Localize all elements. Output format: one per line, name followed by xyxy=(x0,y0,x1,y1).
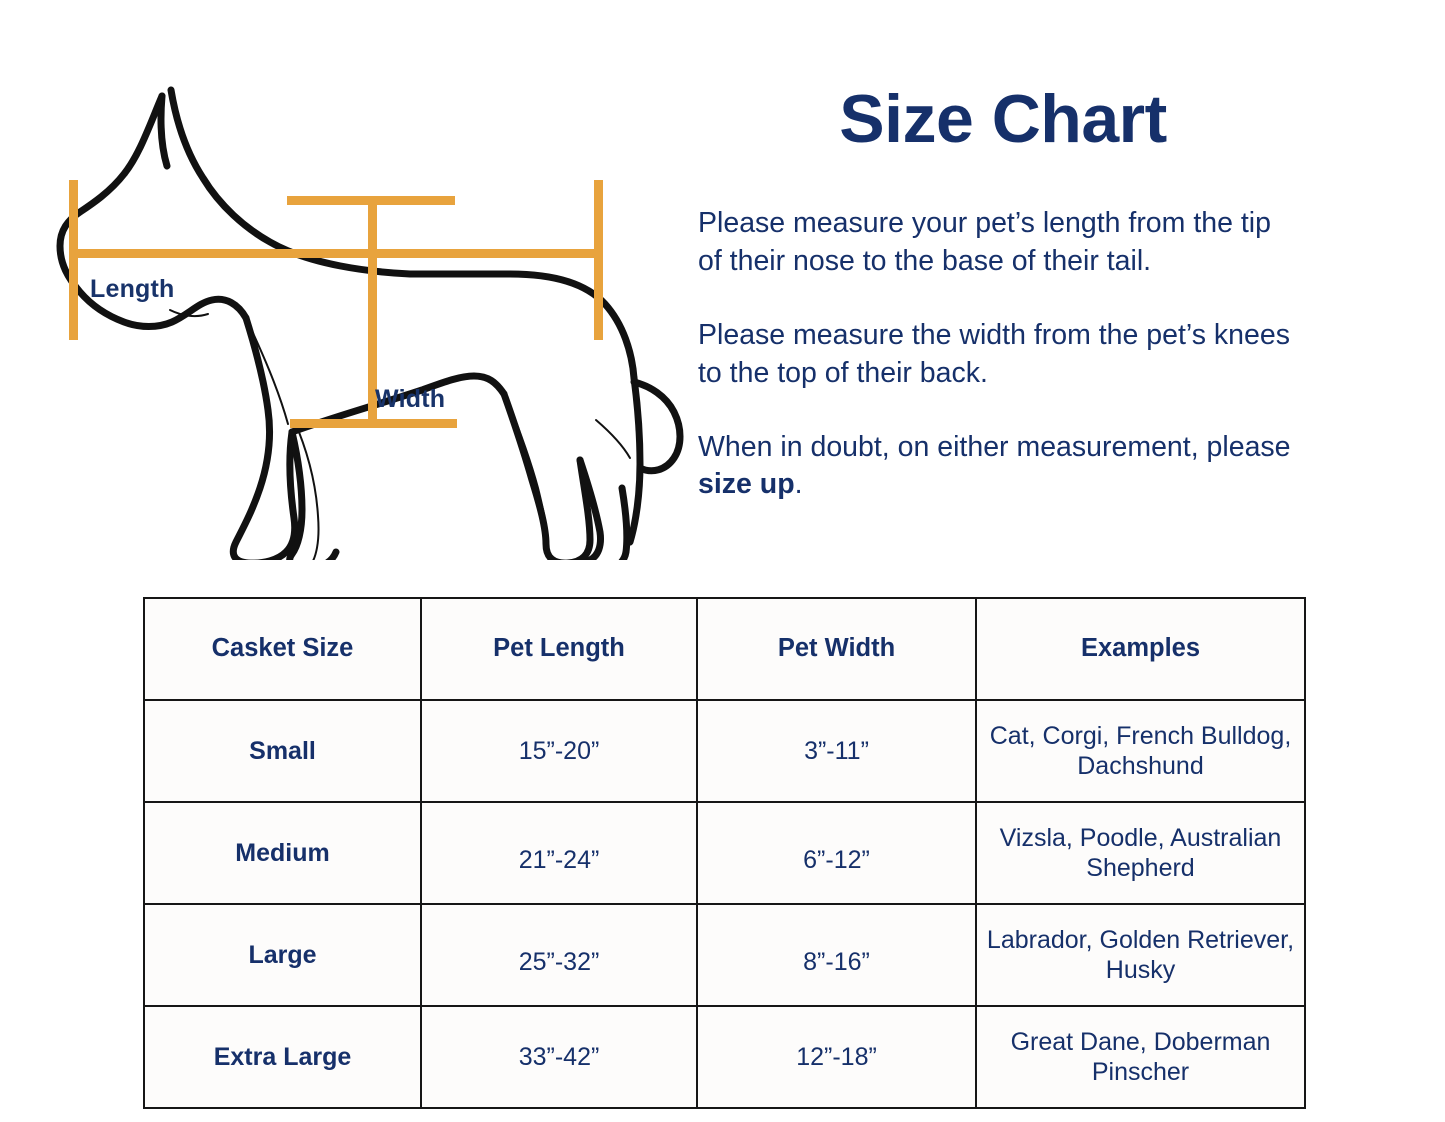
column-header-pet-width: Pet Width xyxy=(697,598,976,700)
instructions-panel: Size Chart Please measure your pet’s len… xyxy=(698,85,1308,504)
page-title: Size Chart xyxy=(698,85,1308,153)
cell-casket-size: Small xyxy=(144,700,421,802)
table-row: Medium 21”-24” 6”-12” Vizsla, Poodle, Au… xyxy=(144,802,1305,904)
column-header-examples: Examples xyxy=(976,598,1305,700)
length-label: Length xyxy=(90,275,175,304)
column-header-pet-length: Pet Length xyxy=(421,598,697,700)
cell-examples: Great Dane, Doberman Pinscher xyxy=(976,1006,1305,1108)
size-chart-table: Casket Size Pet Length Pet Width Example… xyxy=(143,597,1306,1109)
size-up-note-trail: . xyxy=(795,468,803,500)
column-header-casket-size: Casket Size xyxy=(144,598,421,700)
cell-examples: Vizsla, Poodle, Australian Shepherd xyxy=(976,802,1305,904)
size-up-emphasis: size up xyxy=(698,468,795,500)
cell-casket-size: Large xyxy=(144,904,421,1006)
cell-pet-length: 33”-42” xyxy=(421,1006,697,1108)
size-chart-page: Length Width Size Chart Please measure y… xyxy=(0,0,1445,1122)
length-instruction: Please measure your pet’s length from th… xyxy=(698,205,1298,281)
table-row: Extra Large 33”-42” 12”-18” Great Dane, … xyxy=(144,1006,1305,1108)
width-instruction: Please measure the width from the pet’s … xyxy=(698,317,1298,393)
cell-examples: Cat, Corgi, French Bulldog, Dachshund xyxy=(976,700,1305,802)
pet-measurement-diagram: Length Width xyxy=(40,60,700,560)
cell-pet-width: 6”-12” xyxy=(697,809,976,911)
dog-silhouette-icon xyxy=(40,60,700,560)
size-up-note: When in doubt, on either measurement, pl… xyxy=(698,429,1298,505)
cell-pet-length: 21”-24” xyxy=(421,809,697,911)
cell-pet-width: 12”-18” xyxy=(697,1006,976,1108)
cell-pet-length: 25”-32” xyxy=(421,911,697,1013)
table-row: Small 15”-20” 3”-11” Cat, Corgi, French … xyxy=(144,700,1305,802)
table-header-row: Casket Size Pet Length Pet Width Example… xyxy=(144,598,1305,700)
cell-pet-width: 8”-16” xyxy=(697,911,976,1013)
cell-casket-size: Extra Large xyxy=(144,1006,421,1108)
cell-pet-length: 15”-20” xyxy=(421,700,697,802)
table-row: Large 25”-32” 8”-16” Labrador, Golden Re… xyxy=(144,904,1305,1006)
cell-casket-size: Medium xyxy=(144,802,421,904)
size-up-note-lead: When in doubt, on either measurement, pl… xyxy=(698,431,1291,463)
cell-examples: Labrador, Golden Retriever, Husky xyxy=(976,904,1305,1006)
width-label: Width xyxy=(375,385,445,414)
cell-pet-width: 3”-11” xyxy=(697,700,976,802)
